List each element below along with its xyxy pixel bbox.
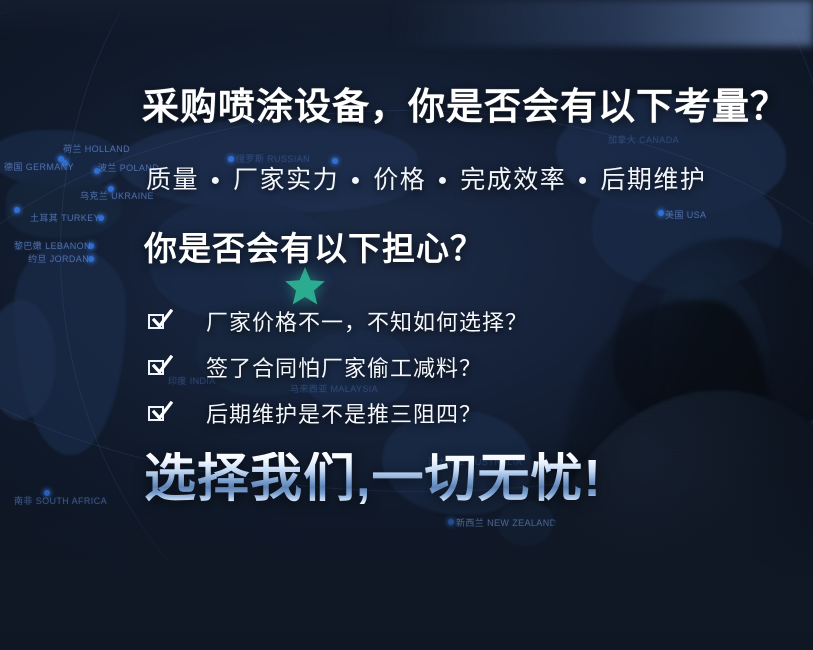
checkbox-checked-icon	[148, 404, 168, 423]
promo-banner: 荷兰 HOLLAND 德国 GERMANY 波兰 POLAND 乌克兰 UKRA…	[0, 0, 813, 650]
list-item-label: 后期维护是不是推三阻四？	[206, 397, 482, 429]
banner-subheadline: 你是否会有以下担心？	[144, 232, 484, 265]
checkbox-checked-icon	[148, 312, 168, 331]
list-item: 后期维护是不是推三阻四？	[148, 395, 528, 431]
subline-item: 完成效率	[460, 166, 566, 194]
list-item-label: 签了合同怕厂家偷工减料？	[206, 351, 482, 383]
map-marker	[14, 207, 20, 213]
bullet-separator-icon: ●	[348, 172, 365, 189]
map-label: 约旦 JORDAN	[28, 252, 89, 265]
map-label: 德国 GERMANY	[4, 160, 74, 173]
subline-item: 质量	[146, 166, 199, 194]
list-item: 厂家价格不一，不知如何选择？	[148, 303, 528, 339]
banner-slogan: 选择我们,一切无忧!	[144, 452, 602, 507]
map-label: 土耳其 TURKEY	[30, 211, 100, 224]
subline-item: 后期维护	[600, 166, 706, 194]
bullet-separator-icon: ●	[435, 172, 452, 189]
bullet-separator-icon: ●	[207, 172, 224, 189]
list-item: 签了合同怕厂家偷工减料？	[148, 349, 528, 385]
banner-subline: 质量 ● 厂家实力 ● 价格 ● 完成效率 ● 后期维护	[146, 160, 706, 196]
map-label: 黎巴嫩 LEBANON	[14, 239, 91, 252]
checkbox-checked-icon	[148, 358, 168, 377]
worry-list: 厂家价格不一，不知如何选择？ 签了合同怕厂家偷工减料？	[148, 303, 528, 441]
map-label: 荷兰 HOLLAND	[63, 142, 130, 155]
bullet-separator-icon: ●	[575, 172, 592, 189]
banner-content: 采购喷涂设备，你是否会有以下考量？ 质量 ● 厂家实力 ● 价格 ● 完成效率 …	[142, 0, 782, 650]
subline-item: 价格	[373, 166, 426, 194]
banner-headline: 采购喷涂设备，你是否会有以下考量？	[142, 88, 788, 125]
list-item-label: 厂家价格不一，不知如何选择？	[206, 305, 528, 337]
subline-item: 厂家实力	[233, 166, 339, 194]
